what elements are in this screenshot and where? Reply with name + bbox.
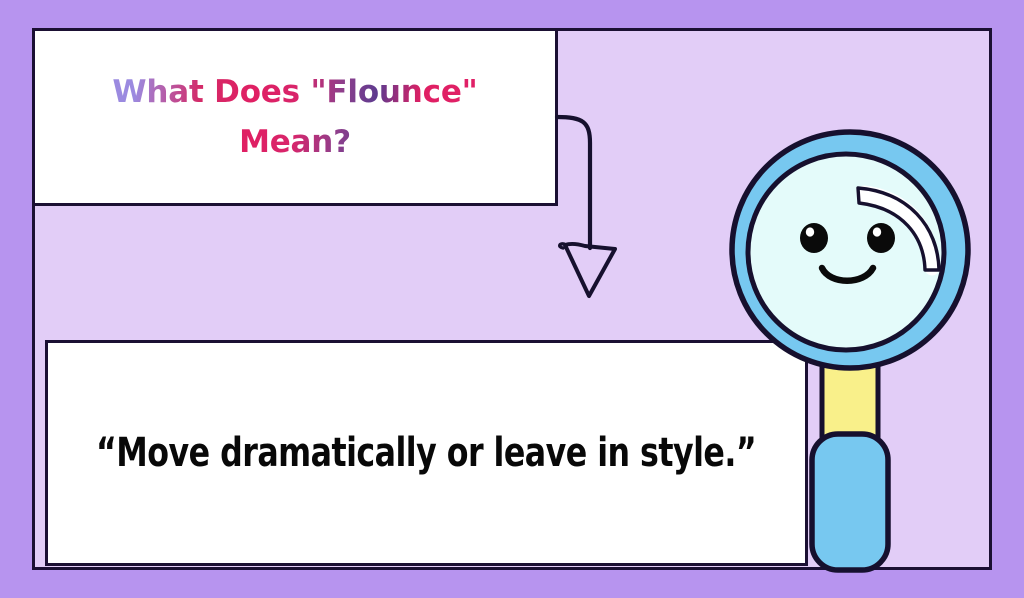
page-title: What Does "Flounce" Mean? [80,67,510,167]
title-card: What Does "Flounce" Mean? [32,28,558,206]
quote-text: “Move dramatically or leave in style.” [96,430,756,476]
magnifying-glass-smiley-icon [718,128,982,576]
slide-canvas: What Does "Flounce" Mean? “Move dramatic… [0,0,1024,598]
curved-down-arrow-icon [545,100,655,300]
quote-card: “Move dramatically or leave in style.” [45,340,808,566]
